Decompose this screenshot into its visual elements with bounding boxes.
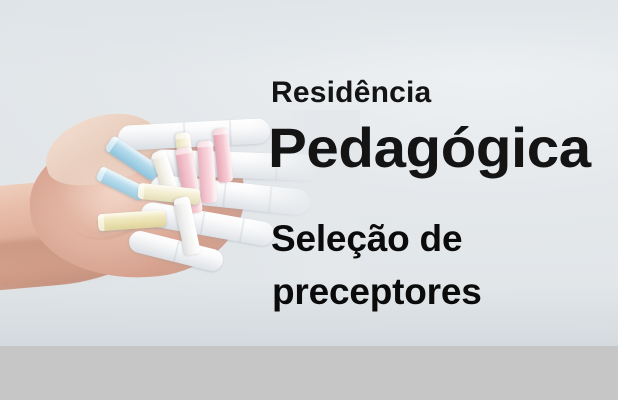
subtitle-line-1: Seleção de bbox=[271, 220, 462, 257]
knuckle-line bbox=[223, 181, 227, 207]
promotional-banner: Residência Pedagógica Seleção de precept… bbox=[0, 0, 618, 400]
knuckle-line bbox=[239, 218, 244, 242]
chalk-tip bbox=[175, 147, 193, 156]
knuckle-line bbox=[200, 211, 205, 235]
knuckle-line bbox=[229, 120, 231, 145]
bottom-bar bbox=[0, 346, 618, 400]
chalk-tip bbox=[97, 214, 104, 231]
eyebrow-text: Residência bbox=[271, 78, 431, 108]
chalk-tip bbox=[175, 132, 191, 140]
page-title: Pedagógica bbox=[268, 120, 591, 176]
chalk-tip bbox=[137, 183, 145, 200]
chalk-tip bbox=[197, 141, 213, 148]
chalk-tip bbox=[213, 128, 229, 136]
knuckle-line bbox=[173, 240, 179, 262]
subtitle-line-2: preceptores bbox=[272, 273, 482, 310]
headline-block: Residência Pedagógica Seleção de precept… bbox=[269, 0, 618, 346]
